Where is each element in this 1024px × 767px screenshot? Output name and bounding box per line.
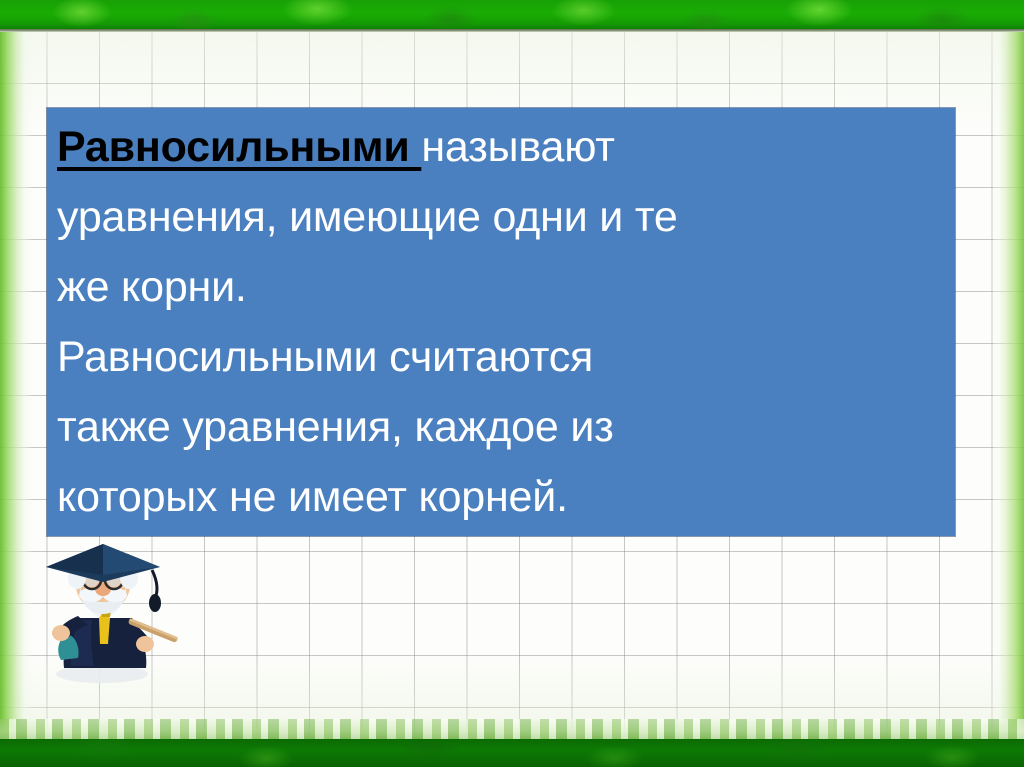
definition-line-1: Равносильными называют — [57, 112, 947, 182]
definition-line-4: Равносильными считаются — [57, 322, 947, 392]
frame-border-bottom — [0, 739, 1024, 767]
frame-border-right — [990, 30, 1024, 739]
definition-textbox: Равносильными называют уравнения, имеющи… — [47, 108, 955, 536]
slide-canvas: Равносильными называют уравнения, имеющи… — [0, 0, 1024, 767]
definition-term: Равносильными — [57, 123, 421, 171]
definition-line-5: также уравнения, каждое из — [57, 392, 947, 462]
definition-line-1-text: называют — [421, 123, 614, 171]
definition-line-3: же корни. — [57, 252, 947, 322]
definition-line-2: уравнения, имеющие одни и те — [57, 182, 947, 252]
definition-line-6: которых не имеет корней. — [57, 462, 947, 532]
frame-border-grass — [0, 719, 1024, 741]
frame-border-top-edge — [0, 29, 1024, 32]
frame-border-top — [0, 0, 1024, 30]
professor-graduate-icon — [34, 540, 179, 690]
frame-border-left — [0, 30, 34, 739]
